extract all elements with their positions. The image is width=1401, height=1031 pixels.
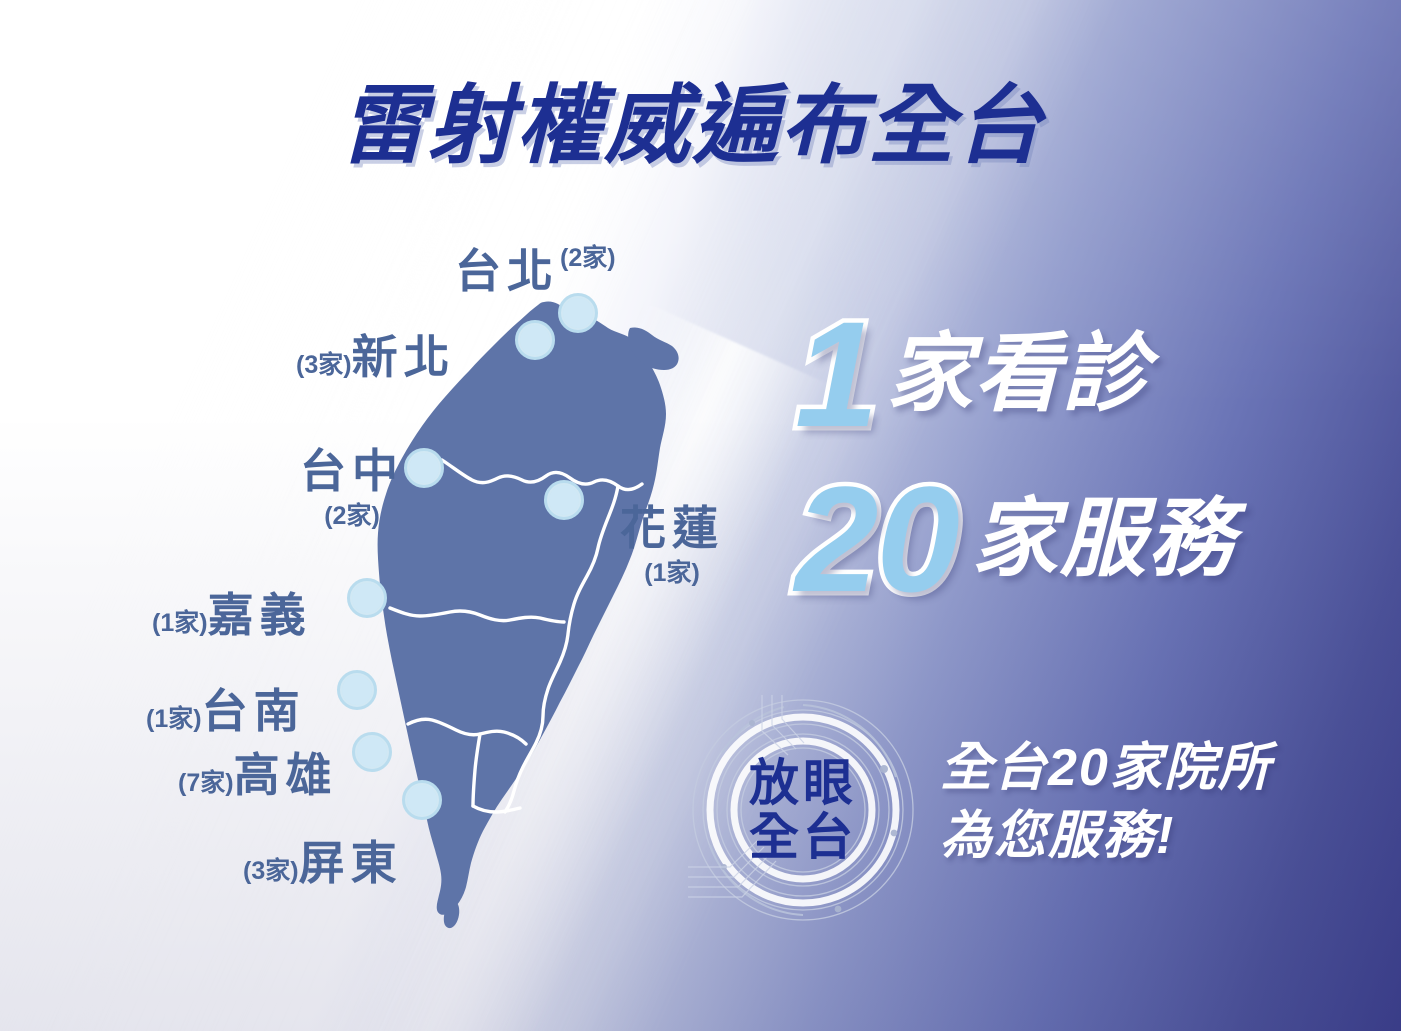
poster-canvas: 雷射權威遍布全台 台北(2家) [0, 0, 1401, 1031]
map-marker-hualien[interactable] [544, 480, 584, 520]
page-title: 雷射權威遍布全台 [340, 78, 1120, 174]
city-label-tainan: (1家)台南 [146, 688, 306, 734]
city-label-taipei: 台北(2家) [455, 248, 616, 294]
map-marker-newtaipei[interactable] [515, 320, 555, 360]
city-name-taipei: 台北 [455, 248, 559, 294]
map-marker-taipei[interactable] [558, 293, 598, 333]
city-name-pingtung: 屏東 [299, 837, 403, 889]
city-name-newtaipei: 新北 [352, 331, 456, 383]
tagline-line-1: 全台20家院所 [940, 735, 1272, 803]
taiwan-landmass [356, 292, 679, 928]
city-label-pingtung: (3家)屏東 [243, 840, 403, 886]
city-count-tainan: (1家) [146, 705, 202, 733]
city-label-kaohsiung: (7家)高雄 [178, 752, 338, 798]
city-count-taichung: (2家) [324, 504, 380, 529]
headline-line-2: 20 家服務 [795, 470, 1236, 608]
city-count-kaohsiung: (7家) [178, 769, 234, 797]
city-name-chiayi: 嘉義 [208, 589, 312, 641]
badge-line-2: 全台 [749, 810, 857, 864]
headline-text-2: 家服務 [972, 496, 1236, 582]
map-marker-pingtung[interactable] [402, 780, 442, 820]
tagline: 全台20家院所 為您服務! [940, 735, 1272, 870]
city-label-chiayi: (1家)嘉義 [152, 592, 312, 638]
tech-ring-badge: 放眼 全台 [688, 695, 918, 925]
city-count-pingtung: (3家) [243, 857, 299, 885]
map-marker-kaohsiung[interactable] [352, 732, 392, 772]
city-count-chiayi: (1家) [152, 609, 208, 637]
badge-line-1: 放眼 [749, 756, 857, 810]
headline-number-1: 1 [795, 305, 876, 443]
city-name-tainan: 台南 [202, 685, 306, 737]
map-marker-tainan[interactable] [337, 670, 377, 710]
city-count-taipei: (2家) [560, 246, 616, 271]
city-name-kaohsiung: 高雄 [234, 749, 338, 801]
tagline-line-2: 為您服務! [940, 803, 1272, 871]
city-count-hualien: (1家) [644, 561, 700, 586]
city-label-newtaipei: (3家)新北 [296, 334, 456, 380]
map-marker-taichung[interactable] [404, 448, 444, 488]
headline-line-1: 1 家看診 [795, 305, 1150, 443]
headline-text-1: 家看診 [886, 331, 1150, 417]
city-count-newtaipei: (3家) [296, 351, 352, 379]
city-label-taichung: 台中(2家) [300, 448, 404, 529]
city-label-hualien: 花蓮(1家) [620, 505, 724, 586]
badge-text: 放眼 全台 [688, 695, 918, 925]
map-marker-chiayi[interactable] [347, 578, 387, 618]
city-name-taichung: 台中 [300, 448, 404, 494]
city-name-hualien: 花蓮 [620, 505, 724, 551]
headline-number-2: 20 [795, 470, 958, 608]
taiwan-map [330, 290, 700, 930]
